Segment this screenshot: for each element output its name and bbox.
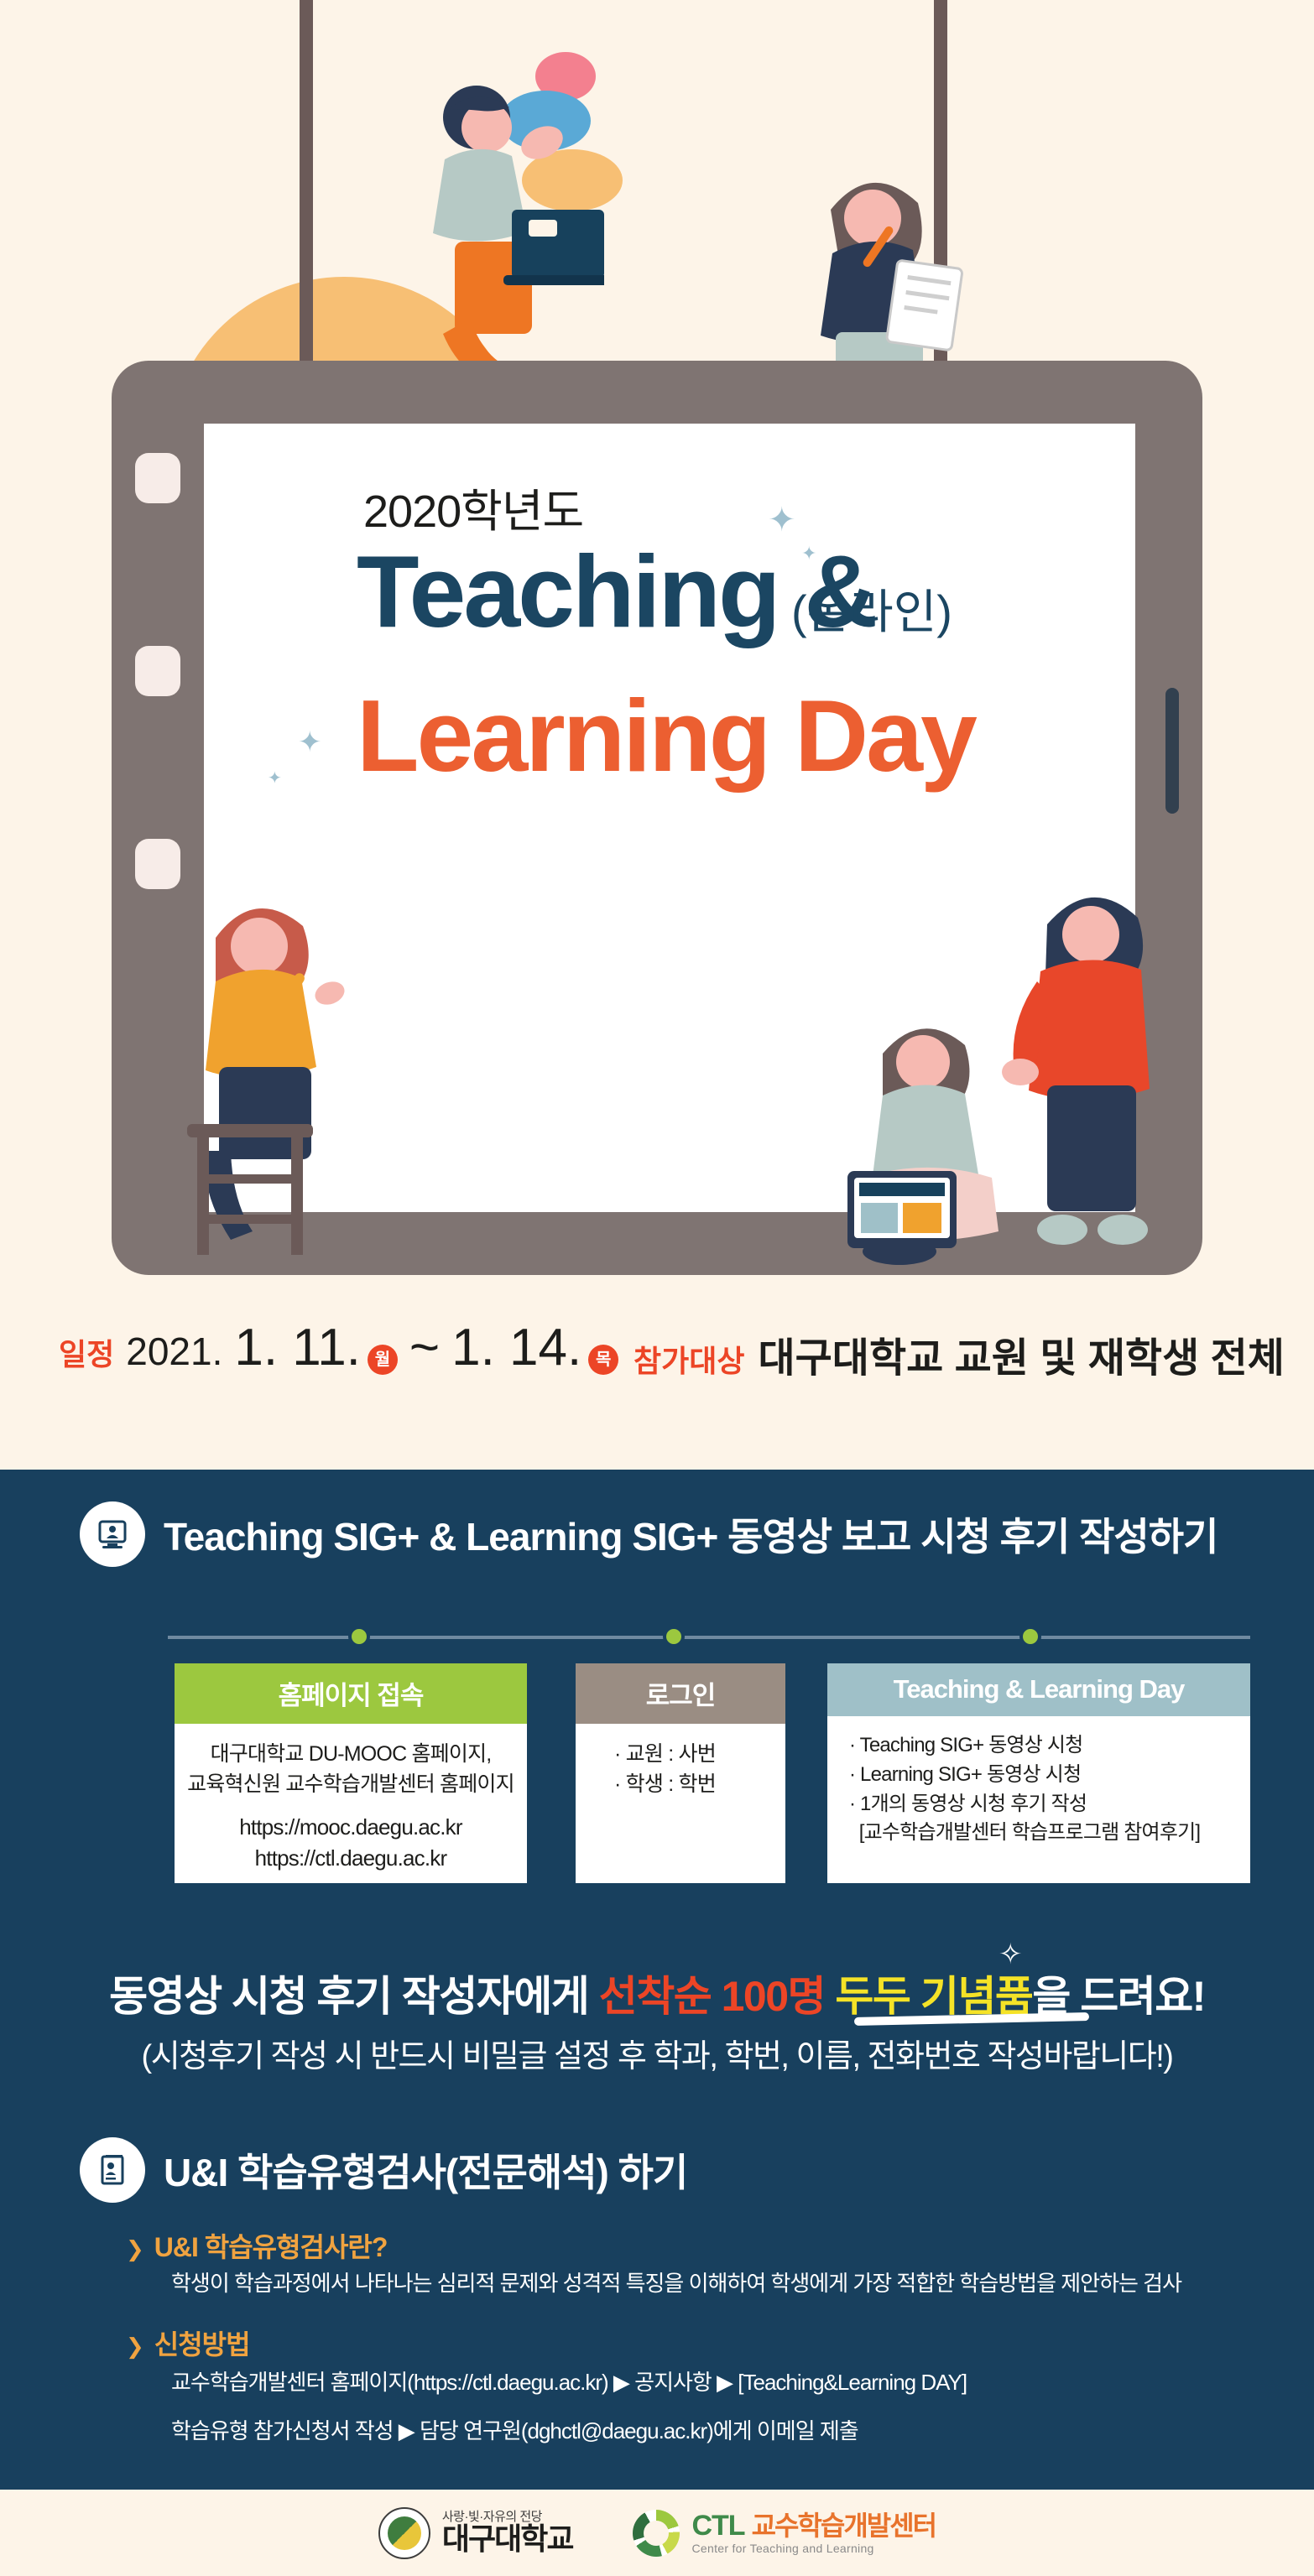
ctl-logo: CTL 교수학습개발센터 Center for Teaching and Lea… xyxy=(633,2510,936,2557)
schedule-year: 2021. xyxy=(126,1329,222,1374)
section1-header: Teaching SIG+ & Learning SIG+ 동영상 보고 시청 … xyxy=(80,1501,1218,1567)
step-3-head: Teaching & Learning Day xyxy=(827,1663,1250,1716)
sparkle-4-icon: ✦ xyxy=(268,768,282,788)
schedule-end-date: 1. 14. xyxy=(451,1318,581,1377)
info-bar: 일정 2021. 1. 11. 월 ~ 1. 14. 목 참가대상 대구대학교 … xyxy=(0,1313,1314,1388)
uni-item-2-body-line2: 학습유형 참가신청서 작성 ▶ 담당 연구원(dghctl@daegu.ac.k… xyxy=(171,2414,858,2445)
target-label: 참가대상 xyxy=(634,1337,744,1381)
step-node-2-icon xyxy=(663,1626,685,1647)
sparkle-3-icon: ✦ xyxy=(298,726,322,759)
tablet-dot-1-icon xyxy=(135,453,180,503)
step-1-head: 홈페이지 접속 xyxy=(175,1663,527,1724)
ctl-english-name: Center for Teaching and Learning xyxy=(691,2542,936,2555)
prize-part1: 동영상 시청 후기 작성자에게 xyxy=(109,1973,599,2020)
step-box-1: 홈페이지 접속 대구대학교 DU-MOOC 홈페이지, 교육혁신원 교수학습개발… xyxy=(175,1663,527,1883)
uni-item-2-label: 신청방법 xyxy=(154,2324,250,2362)
section2-title: U&I 학습유형검사(전문해석) 하기 xyxy=(164,2142,687,2198)
step-2-body: · 교원 : 사번 · 학생 : 학번 xyxy=(576,1724,785,1812)
uni-item-1-header: ❯ U&I 학습유형검사란? xyxy=(126,2226,387,2265)
sparkle-2-icon: ✦ xyxy=(801,543,816,565)
hero-title-line2: Learning Day xyxy=(357,677,975,794)
chevron-right-icon-2: ❯ xyxy=(126,2334,144,2360)
illustration-person-stool xyxy=(172,872,424,1258)
step-node-1-icon xyxy=(348,1626,370,1647)
section2-header: U&I 학습유형검사(전문해석) 하기 xyxy=(80,2137,687,2203)
uni-item-1-label: U&I 학습유형검사란? xyxy=(154,2226,388,2265)
sparkle-1-icon: ✦ xyxy=(768,501,796,539)
schedule-label: 일정 xyxy=(59,1330,114,1374)
step-3-line-1: · Teaching SIG+ 동영상 시청 xyxy=(849,1731,1238,1761)
uni-item-1-body: 학생이 학습과정에서 나타나는 심리적 문제와 성격적 특징을 이해하여 학생에… xyxy=(171,2266,1181,2298)
document-person-icon xyxy=(80,2137,145,2203)
section1-title: Teaching SIG+ & Learning SIG+ 동영상 보고 시청 … xyxy=(164,1507,1218,1562)
step-box-2: 로그인 · 교원 : 사번 · 학생 : 학번 xyxy=(576,1663,785,1883)
ctl-korean-name: 교수학습개발센터 xyxy=(752,2511,936,2541)
university-name: 대구대학교 xyxy=(442,2523,573,2555)
schedule-range-sep: ~ xyxy=(409,1318,440,1377)
hero-online-tag: (온라인) xyxy=(791,575,952,643)
monitor-person-icon xyxy=(80,1501,145,1567)
poster-hero-section: 2020학년도 Teaching & (온라인) Learning Day ✦ … xyxy=(0,0,1314,1470)
schedule-block: 일정 2021. 1. 11. 월 ~ 1. 14. 목 xyxy=(59,1318,618,1377)
ctl-ring-icon xyxy=(633,2510,680,2557)
step-3-line-3: · 1개의 동영상 시청 후기 작성 xyxy=(849,1790,1238,1819)
ctl-abbreviation: CTL xyxy=(691,2511,744,2542)
step-1-line-1: 대구대학교 DU-MOOC 홈페이지, xyxy=(186,1739,515,1769)
target-value: 대구대학교 교원 및 재학생 전체 xyxy=(758,1324,1284,1383)
hanging-rod-left-icon xyxy=(300,0,313,413)
illustration-person-laptop xyxy=(386,84,604,403)
tablet-side-bar-icon xyxy=(1165,688,1179,814)
step-1-url-2[interactable]: https://ctl.daegu.ac.kr xyxy=(186,1843,515,1875)
prize-note: (시청후기 작성 시 반드시 비밀글 설정 후 학과, 학번, 이름, 전화번호… xyxy=(0,2030,1314,2076)
step-2-line-1: · 교원 : 사번 xyxy=(614,1739,774,1769)
step-3-body: · Teaching SIG+ 동영상 시청 · Learning SIG+ 동… xyxy=(827,1716,1250,1860)
prize-highlight-gift: 두두 기념품 xyxy=(825,1973,1032,2020)
schedule-end-day-badge: 목 xyxy=(588,1345,618,1375)
daegu-university-seal-icon xyxy=(378,2507,430,2559)
uni-item-2-body-line1: 교수학습개발센터 홈페이지(https://ctl.daegu.ac.kr) ▶… xyxy=(171,2365,967,2396)
schedule-start-day-badge: 월 xyxy=(368,1345,398,1375)
target-block: 참가대상 대구대학교 교원 및 재학생 전체 xyxy=(634,1324,1285,1383)
step-3-line-4: [교수학습개발센터 학습프로그램 참여후기] xyxy=(849,1819,1238,1848)
hero-year: 2020학년도 xyxy=(363,474,583,540)
step-1-body: 대구대학교 DU-MOOC 홈페이지, 교육혁신원 교수학습개발센터 홈페이지 … xyxy=(175,1724,527,1886)
chevron-right-icon-1: ❯ xyxy=(126,2236,144,2262)
step-1-line-2: 교육혁신원 교수학습개발센터 홈페이지 xyxy=(186,1769,515,1799)
step-node-3-icon xyxy=(1019,1626,1041,1647)
prize-banner: 동영상 시청 후기 작성자에게 선착순 100명 두두 기념품을 드려요! xyxy=(0,1963,1314,2023)
poster-footer: 사랑·빛·자유의 전당 대구대학교 CTL 교수학습개발센터 Center fo… xyxy=(0,2490,1314,2576)
step-2-line-2: · 학생 : 학번 xyxy=(614,1769,774,1799)
uni-item-2-header: ❯ 신청방법 xyxy=(126,2324,250,2362)
university-logo: 사랑·빛·자유의 전당 대구대학교 xyxy=(378,2507,573,2559)
illustration-person-standing xyxy=(999,872,1208,1275)
schedule-start-date: 1. 11. xyxy=(234,1318,361,1377)
step-3-line-2: · Learning SIG+ 동영상 시청 xyxy=(849,1761,1238,1790)
steps-connector-line xyxy=(168,1636,1250,1639)
prize-highlight-count: 선착순 100명 xyxy=(599,1973,825,2020)
step-2-head: 로그인 xyxy=(576,1663,785,1724)
tablet-dot-2-icon xyxy=(135,646,180,696)
step-box-3: Teaching & Learning Day · Teaching SIG+ … xyxy=(827,1663,1250,1883)
step-1-url-1[interactable]: https://mooc.daegu.ac.kr xyxy=(186,1812,515,1844)
